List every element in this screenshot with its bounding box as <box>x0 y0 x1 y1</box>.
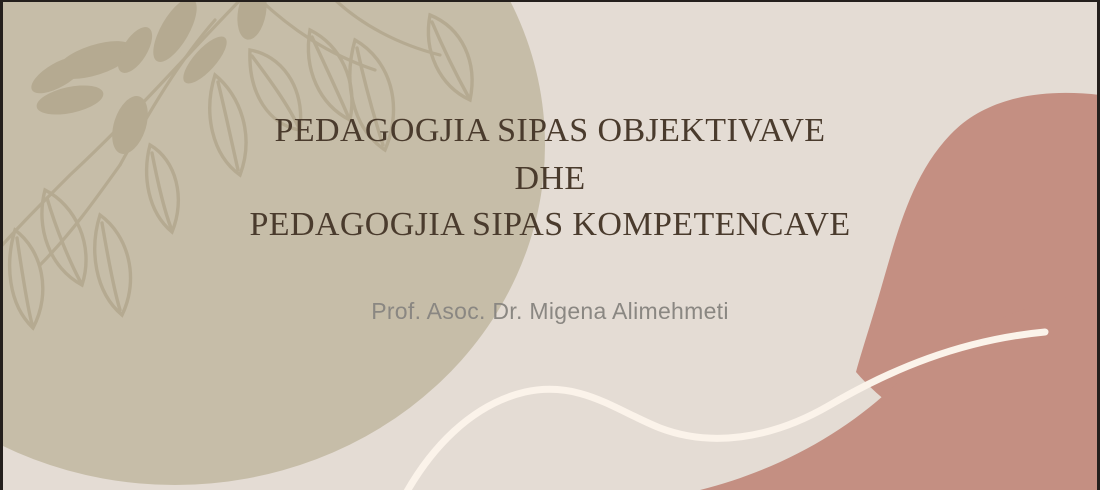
slide-border-left <box>0 0 3 490</box>
slide-title-line-3: PEDAGOGJIA SIPAS KOMPETENCAVE <box>0 206 1100 244</box>
presentation-slide: PEDAGOGJIA SIPAS OBJEKTIVAVE DHE PEDAGOG… <box>0 0 1100 490</box>
slide-subtitle-author: Prof. Asoc. Dr. Migena Alimehmeti <box>0 298 1100 325</box>
slide-text-block: PEDAGOGJIA SIPAS OBJEKTIVAVE DHE PEDAGOG… <box>0 0 1100 490</box>
slide-title-line-2: DHE <box>0 160 1100 198</box>
slide-title-line-1: PEDAGOGJIA SIPAS OBJEKTIVAVE <box>0 112 1100 150</box>
slide-border-top <box>0 0 1100 2</box>
